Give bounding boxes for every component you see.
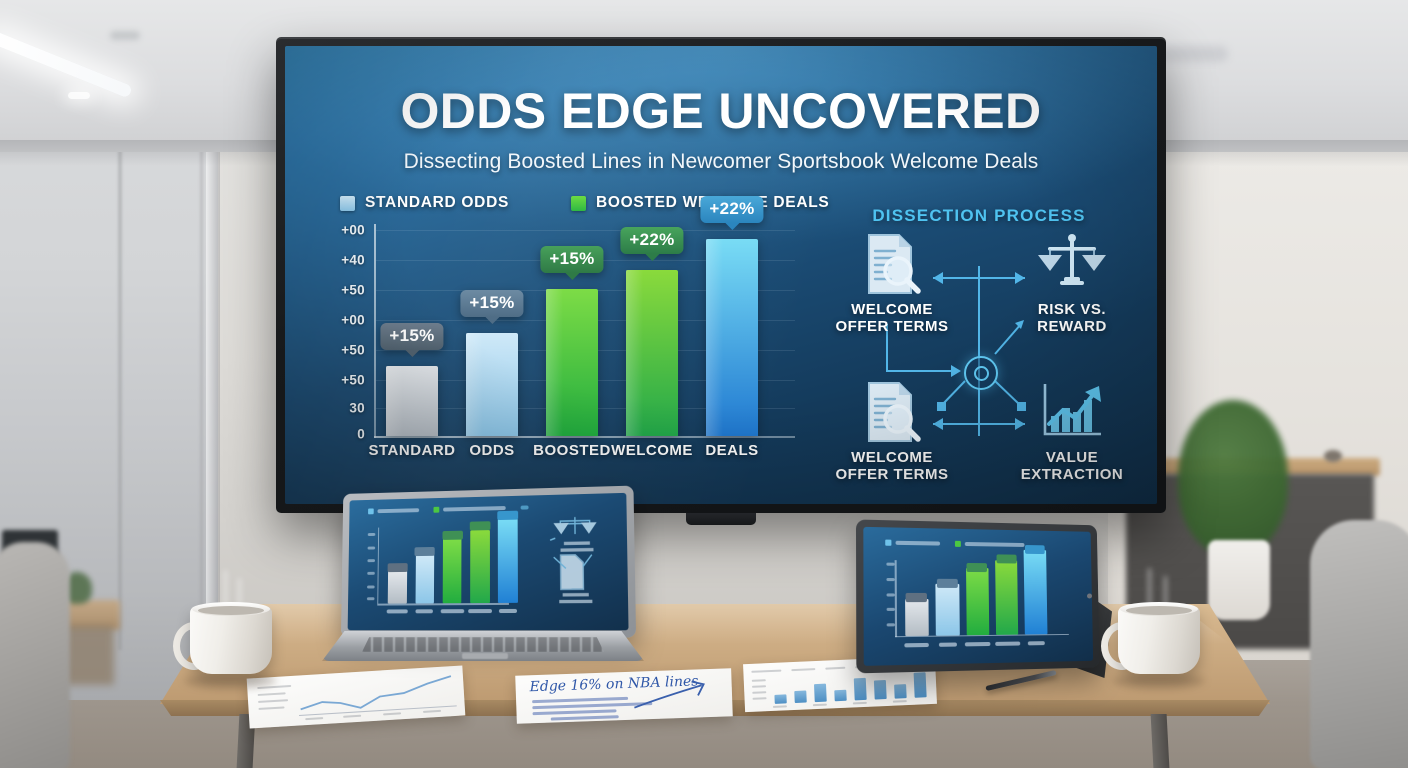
tablet-mini-chart bbox=[863, 527, 1093, 666]
process-label-value-extraction: VALUE EXTRACTION bbox=[1001, 450, 1143, 484]
display-stand bbox=[686, 513, 756, 525]
process-node-risk-vs-reward[interactable]: RISK VS. REWARD bbox=[1001, 228, 1143, 336]
x-axis-line bbox=[374, 436, 795, 438]
door-frame-right bbox=[200, 148, 203, 648]
dissection-process-diagram: DISSECTION PROCESS bbox=[825, 206, 1133, 496]
laptop-mini-diagram bbox=[534, 512, 622, 608]
bar-deals[interactable] bbox=[706, 239, 758, 436]
presentation-title: ODDS EDGE UNCOVERED bbox=[285, 86, 1157, 136]
document-magnifier-icon bbox=[821, 228, 963, 300]
x-label-boosted: BOOSTED bbox=[533, 442, 611, 459]
x-label-odds: ODDS bbox=[469, 442, 514, 459]
x-label-welcome: WELCOME bbox=[611, 442, 693, 459]
ceiling-downlight bbox=[68, 92, 90, 99]
y-tick: +00 bbox=[341, 313, 365, 328]
bar-label-odds: +15% bbox=[460, 290, 523, 317]
credenza-object bbox=[1324, 450, 1342, 462]
door-frame-left bbox=[118, 150, 122, 650]
legend-label-standard-odds: STANDARD ODDS bbox=[365, 194, 509, 212]
laptop-trackpad[interactable] bbox=[462, 653, 508, 659]
bar-welcome[interactable] bbox=[626, 270, 678, 436]
y-tick: +50 bbox=[341, 283, 365, 298]
table-leg-right bbox=[1151, 714, 1170, 768]
y-axis-labels: +00 +40 +50 +00 +50 +50 30 0 bbox=[325, 224, 373, 436]
presentation-subtitle: Dissecting Boosted Lines in Newcomer Spo… bbox=[285, 150, 1157, 174]
process-label-welcome-offer-terms-bottom: WELCOME OFFER TERMS bbox=[821, 450, 963, 484]
y-tick: +50 bbox=[341, 373, 365, 388]
bar-chart: +00 +40 +50 +00 +50 +50 30 0 bbox=[325, 224, 795, 474]
ceiling-fixture bbox=[110, 31, 140, 40]
process-node-welcome-offer-terms-top[interactable]: WELCOME OFFER TERMS bbox=[821, 228, 963, 336]
potted-plant-pot bbox=[1208, 540, 1270, 620]
laptop-keyboard[interactable] bbox=[362, 637, 604, 652]
legend-item-standard-odds: STANDARD ODDS bbox=[340, 194, 509, 212]
legend-swatch-standard-odds bbox=[340, 196, 355, 211]
chair-right bbox=[1310, 520, 1408, 768]
bar-label-welcome: +22% bbox=[620, 227, 683, 254]
mini-legend bbox=[885, 540, 1010, 548]
scales-balance-icon bbox=[1001, 228, 1143, 300]
process-node-value-extraction[interactable]: VALUE EXTRACTION bbox=[1001, 376, 1143, 484]
tablet-camera bbox=[1087, 594, 1092, 599]
mug-body bbox=[1118, 606, 1200, 674]
mug-interior bbox=[198, 606, 264, 615]
mug-shadow bbox=[1112, 674, 1205, 688]
process-title: DISSECTION PROCESS bbox=[825, 206, 1133, 226]
laptop-lid bbox=[341, 486, 636, 638]
coffee-mug-left[interactable] bbox=[190, 592, 272, 682]
presentation-display[interactable]: ODDS EDGE UNCOVERED Dissecting Boosted L… bbox=[276, 37, 1166, 513]
legend-swatch-boosted-welcome-deals bbox=[571, 196, 586, 211]
chart-plot-area: +15% +15% +15% bbox=[376, 224, 795, 436]
bar-label-standard: +15% bbox=[380, 323, 443, 350]
bar-label-deals: +22% bbox=[700, 196, 763, 223]
laptop[interactable] bbox=[322, 489, 644, 669]
laptop-screen bbox=[348, 493, 629, 630]
y-tick: +00 bbox=[341, 223, 365, 238]
process-label-risk-vs-reward: RISK VS. REWARD bbox=[1001, 302, 1143, 336]
tablet-screen bbox=[863, 527, 1093, 666]
chair-left bbox=[0, 542, 70, 768]
laptop-mini-chart bbox=[348, 493, 629, 630]
mug-interior bbox=[1126, 606, 1192, 615]
document-magnifier-icon bbox=[821, 376, 963, 448]
x-label-standard: STANDARD bbox=[368, 442, 455, 459]
x-label-deals: DEALS bbox=[705, 442, 758, 459]
process-hub-node bbox=[964, 356, 998, 390]
y-tick: 30 bbox=[349, 401, 365, 416]
bar-boosted[interactable] bbox=[546, 289, 598, 436]
office-presentation-scene: ODDS EDGE UNCOVERED Dissecting Boosted L… bbox=[0, 0, 1408, 768]
potted-plant-foliage bbox=[1178, 400, 1288, 555]
x-axis-labels: STANDARD ODDS BOOSTED WELCOME DEALS bbox=[376, 442, 806, 464]
process-label-welcome-offer-terms-top: WELCOME OFFER TERMS bbox=[821, 302, 963, 336]
bar-odds[interactable] bbox=[466, 333, 518, 436]
tablet-body bbox=[856, 519, 1100, 673]
process-node-welcome-offer-terms-bottom[interactable]: WELCOME OFFER TERMS bbox=[821, 376, 963, 484]
y-tick: 0 bbox=[357, 427, 365, 442]
mug-body bbox=[190, 606, 272, 674]
paper-handwritten-note[interactable]: Edge 16% on NBA lines bbox=[515, 668, 733, 724]
coffee-mug-right[interactable] bbox=[1118, 592, 1200, 682]
tablet[interactable] bbox=[858, 522, 1106, 670]
bar-label-boosted: +15% bbox=[540, 246, 603, 273]
display-screen: ODDS EDGE UNCOVERED Dissecting Boosted L… bbox=[285, 46, 1157, 504]
growth-chart-arrow-icon bbox=[1001, 376, 1143, 448]
y-tick: +40 bbox=[341, 253, 365, 268]
y-tick: +50 bbox=[341, 343, 365, 358]
bar-standard[interactable] bbox=[386, 366, 438, 436]
note-arrow-sketch bbox=[515, 668, 733, 724]
mug-shadow bbox=[184, 674, 277, 688]
